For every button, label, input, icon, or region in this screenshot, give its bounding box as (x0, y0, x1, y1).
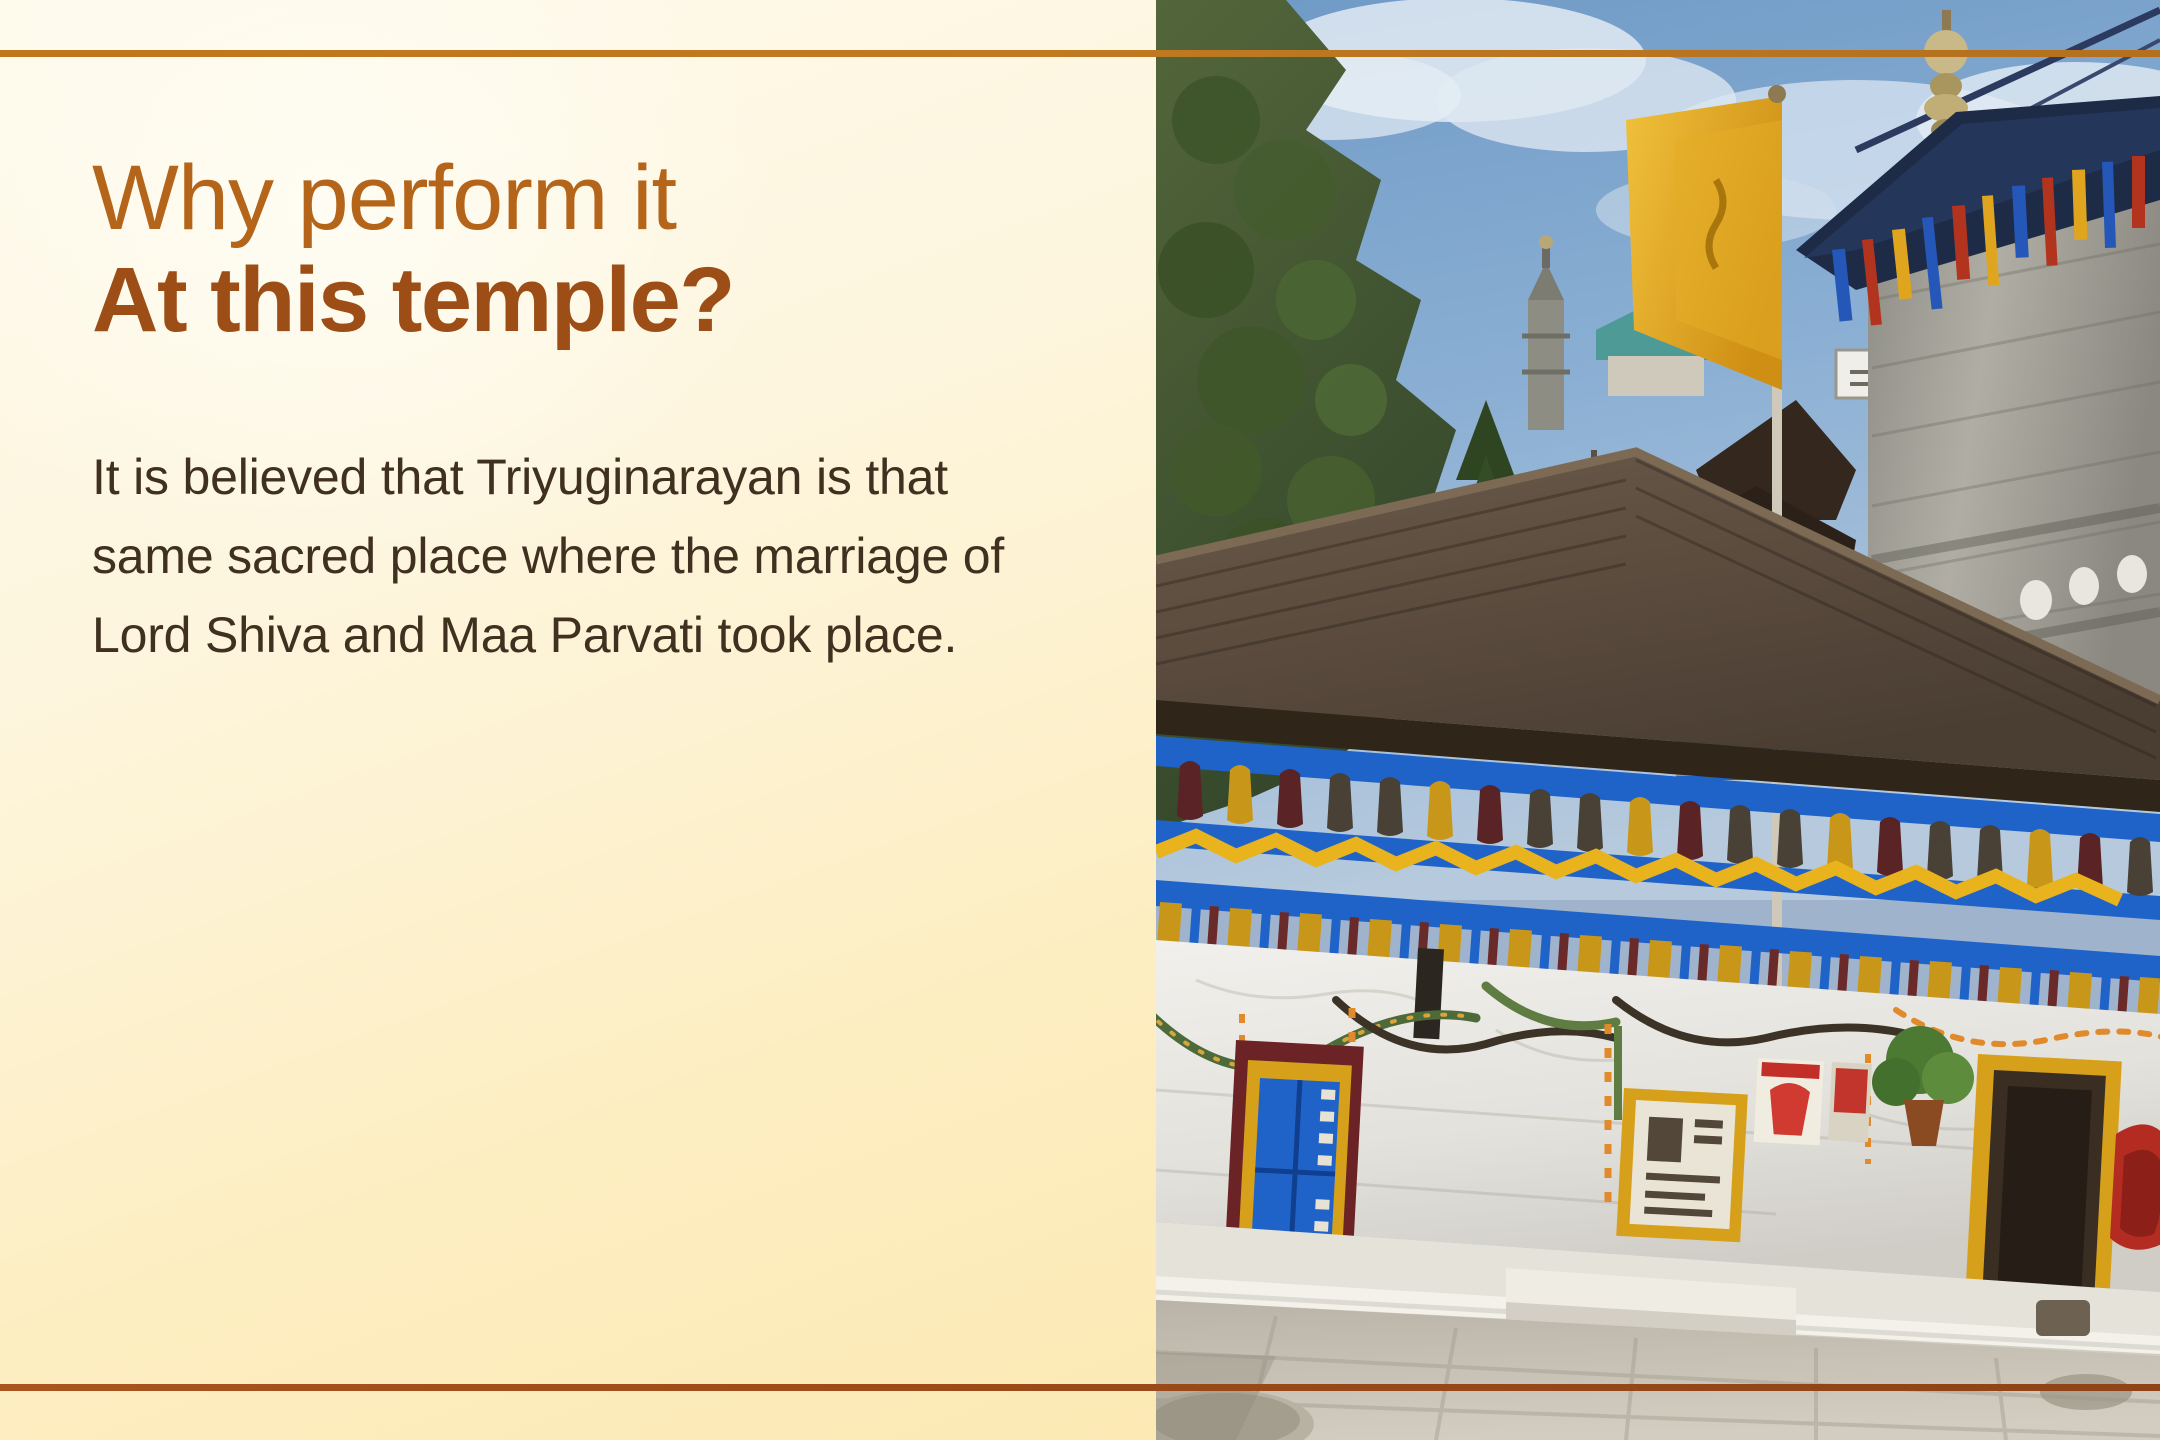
text-content-block: Why perform it At this temple? It is bel… (92, 150, 1052, 675)
red-cloth-bundle (2110, 1124, 2160, 1249)
bottom-accent-rule (0, 1384, 2160, 1391)
headline-line-2: At this temple? (92, 248, 1052, 353)
framed-picture (1616, 1088, 1748, 1242)
headline-line-1: Why perform it (92, 150, 1052, 248)
wall-vent (1413, 948, 1444, 1039)
slide-root: Why perform it At this temple? It is bel… (0, 0, 2160, 1440)
top-accent-rule (0, 50, 2160, 57)
body-paragraph: It is believed that Triyuginarayan is th… (92, 438, 1022, 675)
wall-offerings (1754, 1058, 1872, 1145)
page-title: Why perform it At this temple? (92, 150, 1052, 352)
temple-photo-illustration (1156, 0, 2160, 1440)
temple-photo (1156, 0, 2160, 1440)
